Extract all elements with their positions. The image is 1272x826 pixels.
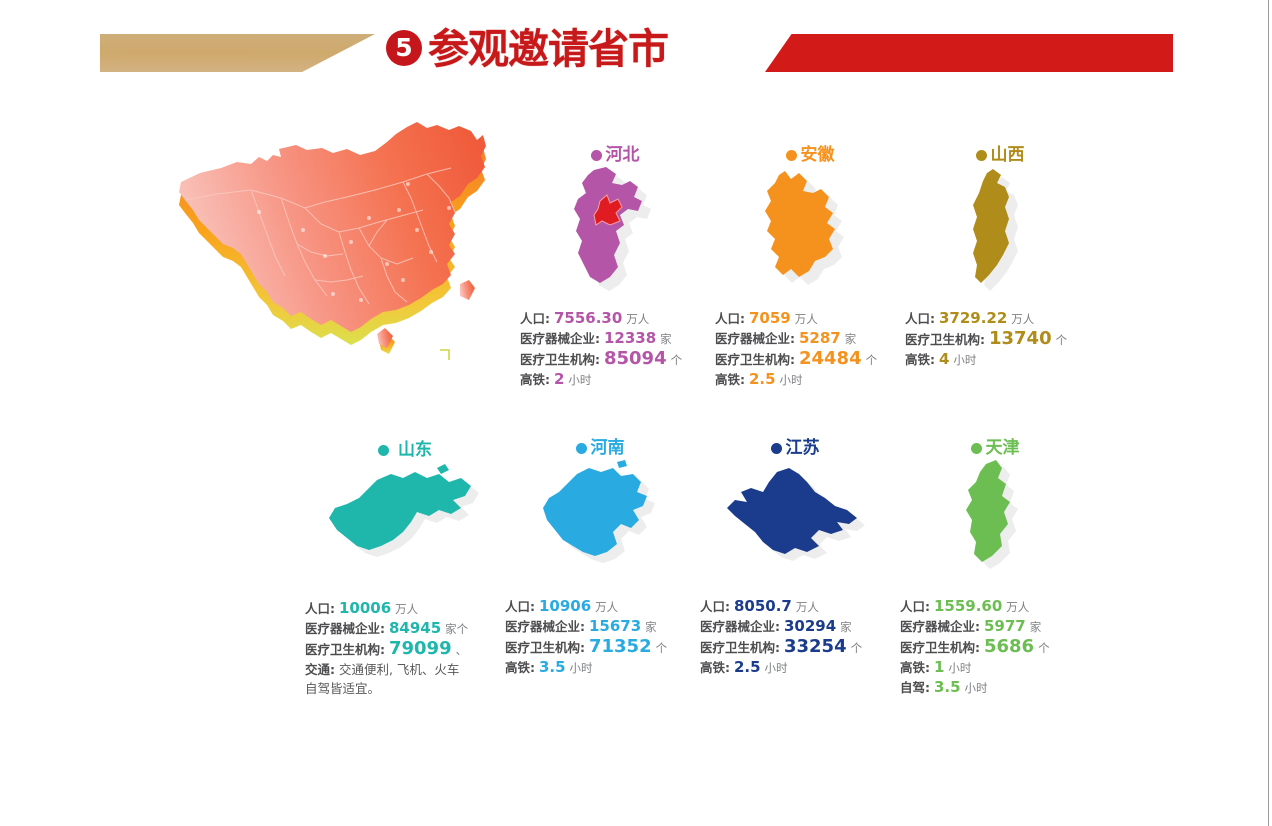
stat-label: 人口: [900,599,930,614]
province-color-dot-icon [576,443,587,454]
stat-unit: 小时 [965,681,988,695]
province-title-shanxi: 山西 [905,145,1095,165]
stat-value: 10006 [339,599,391,617]
stat-value: 2.5 [734,658,761,676]
stat-line: 医疗卫生机构: 33254 个 [700,637,890,658]
stat-line: 高铁: 3.5 小时 [505,658,695,678]
stat-unit: 个 [1056,333,1068,347]
stat-line: 高铁: 1 小时 [900,658,1090,678]
stat-unit: 家个 [445,622,468,636]
stat-label: 医疗卫生机构: [305,642,385,657]
stat-label: 医疗卫生机构: [505,640,585,655]
stat-line: 人口: 10006 万人 [305,599,505,619]
stat-value: 3.5 [934,678,961,696]
stat-value: 79099 [389,638,452,659]
stat-line: 高铁: 2 小时 [520,370,710,390]
province-shape-anhui [715,165,905,305]
stat-label: 人口: [905,311,935,326]
stat-label: 医疗器械企业: [520,331,600,346]
stat-label: 人口: [305,601,335,616]
province-stats-anhui: 人口: 7059 万人 医疗器械企业: 5287 家 医疗卫生机构: 24484… [715,309,905,390]
stat-label: 高铁: [715,372,745,387]
stat-line: 人口: 3729.22 万人 [905,309,1095,329]
stat-unit: 个 [851,641,863,655]
header-red-banner [765,34,1173,72]
province-title-hebei: 河北 [520,145,710,165]
stat-value: 1 [934,658,944,676]
province-card-hebei[interactable]: 河北 人口: 7556.30 万人 医疗器械企业: 12338 家 医疗卫生机构… [520,145,710,390]
stat-unit: 小时 [570,661,593,675]
province-shape-shandong [305,460,505,595]
stat-label: 医疗器械企业: [700,619,780,634]
china-map-surface [179,122,486,354]
stat-label: 人口: [715,311,745,326]
province-title-jiangsu: 江苏 [700,438,890,458]
china-map-svg [155,112,515,377]
stat-value: 33254 [784,636,847,657]
stat-unit: 小时 [948,661,971,675]
stat-line: 医疗卫生机构: 24484 个 [715,349,905,370]
stat-label: 医疗卫生机构: [700,640,780,655]
china-map-illustration [155,112,515,377]
province-shape-henan [505,458,695,593]
stat-line: 人口: 8050.7 万人 [700,597,890,617]
province-shape-tianjin [900,458,1090,593]
stat-label: 医疗器械企业: [900,619,980,634]
province-title-henan: 河南 [505,438,695,458]
stat-value: 7059 [749,309,791,327]
province-name: 河北 [606,145,640,165]
province-color-dot-icon [976,150,987,161]
province-card-tianjin[interactable]: 天津 人口: 1559.60 万人 医疗器械企业: 5977 家 医疗卫生机构:… [900,438,1090,698]
stat-line: 医疗器械企业: 15673 家 [505,617,695,637]
stat-line: 医疗卫生机构: 5686 个 [900,637,1090,658]
stat-unit: 个 [671,353,683,367]
province-card-henan[interactable]: 河南 人口: 10906 万人 医疗器械企业: 15673 家 医疗卫生机构: … [505,438,695,678]
stat-line: 高铁: 2.5 小时 [700,658,890,678]
stat-value: 3729.22 [939,309,1007,327]
province-name: 河南 [591,438,625,458]
stat-label: 高铁: [900,660,930,675]
stat-unit: 个 [1038,641,1050,655]
stat-value: 1559.60 [934,597,1002,615]
stat-unit: 家 [660,332,672,346]
stat-line: 医疗器械企业: 5287 家 [715,329,905,349]
province-shape-shanxi [905,165,1095,305]
province-title-shandong: 山东 [305,440,505,460]
page-header: 5 参观邀请省市 [0,0,1272,100]
stat-unit: 万人 [1006,600,1029,614]
stat-line: 医疗器械企业: 12338 家 [520,329,710,349]
province-card-shanxi[interactable]: 山西 人口: 3729.22 万人 医疗卫生机构: 13740 个 高铁: 4 … [905,145,1095,370]
stat-line: 人口: 7059 万人 [715,309,905,329]
province-name: 安徽 [801,145,835,165]
province-card-jiangsu[interactable]: 江苏 人口: 8050.7 万人 医疗器械企业: 30294 家 医疗卫生机构:… [700,438,890,678]
province-color-dot-icon [786,150,797,161]
stat-line: 医疗器械企业: 5977 家 [900,617,1090,637]
stat-label: 交通: [305,662,335,677]
province-stats-tianjin: 人口: 1559.60 万人 医疗器械企业: 5977 家 医疗卫生机构: 56… [900,597,1090,698]
stat-value: 7556.30 [554,309,622,327]
province-name: 天津 [986,438,1020,458]
header-gold-banner [100,34,375,72]
stat-label: 高铁: [905,352,935,367]
province-name: 江苏 [786,438,820,458]
stat-value: 85094 [604,348,667,369]
stat-value: 84945 [389,619,441,637]
stat-unit: 小时 [953,353,976,367]
stat-line: 医疗卫生机构: 79099 、 [305,639,505,660]
stat-label: 医疗卫生机构: [900,640,980,655]
province-stats-jiangsu: 人口: 8050.7 万人 医疗器械企业: 30294 家 医疗卫生机构: 33… [700,597,890,678]
stat-unit: 万人 [595,600,618,614]
stat-unit: 个 [656,641,668,655]
stat-value: 24484 [799,348,862,369]
map-scale-mark [440,350,449,360]
stat-value: 12338 [604,329,656,347]
stat-label: 高铁: [505,660,535,675]
province-color-dot-icon [591,150,602,161]
stat-unit: 家 [645,620,657,634]
province-title-anhui: 安徽 [715,145,905,165]
stat-free-text: 交通便利, 飞机、火车 [339,662,459,677]
stat-label: 自驾: [900,680,930,695]
province-shape-jiangsu [700,458,890,593]
stat-unit: 万人 [626,312,649,326]
stat-label: 医疗卫生机构: [905,332,985,347]
province-color-dot-icon [771,443,782,454]
page-title: 参观邀请省市 [428,24,668,74]
section-number: 5 [395,35,412,60]
stat-value: 5287 [799,329,841,347]
page-edge-line [1268,0,1269,826]
stat-label: 高铁: [700,660,730,675]
stat-unit: 家 [840,620,852,634]
stat-free-text: 自驾皆适宜。 [305,681,380,696]
stat-label: 人口: [700,599,730,614]
stat-line: 高铁: 2.5 小时 [715,370,905,390]
stat-label: 人口: [505,599,535,614]
stat-value: 8050.7 [734,597,792,615]
stat-label: 医疗器械企业: [305,621,385,636]
stat-line: 医疗器械企业: 30294 家 [700,617,890,637]
province-card-anhui[interactable]: 安徽 人口: 7059 万人 医疗器械企业: 5287 家 医疗卫生机构: 24… [715,145,905,390]
stat-line: 医疗卫生机构: 13740 个 [905,329,1095,350]
province-color-dot-icon [971,443,982,454]
stat-value: 4 [939,350,949,368]
stat-line: 医疗卫生机构: 71352 个 [505,637,695,658]
stat-value: 13740 [989,328,1052,349]
stat-label: 医疗卫生机构: [520,352,600,367]
stat-value: 3.5 [539,658,566,676]
province-title-tianjin: 天津 [900,438,1090,458]
stat-unit: 个 [866,353,878,367]
stat-value: 10906 [539,597,591,615]
stat-line: 高铁: 4 小时 [905,350,1095,370]
province-stats-shandong: 人口: 10006 万人 医疗器械企业: 84945 家个 医疗卫生机构: 79… [305,599,505,698]
stat-unit: 、 [456,643,468,657]
stat-unit: 小时 [765,661,788,675]
province-stats-shanxi: 人口: 3729.22 万人 医疗卫生机构: 13740 个 高铁: 4 小时 [905,309,1095,370]
province-name: 山东 [398,440,432,460]
stat-unit: 小时 [568,373,591,387]
stat-value: 5686 [984,636,1034,657]
stat-value: 71352 [589,636,652,657]
stat-line: 自驾皆适宜。 [305,679,505,698]
stat-unit: 家 [845,332,857,346]
stat-value: 5977 [984,617,1026,635]
stat-unit: 万人 [795,312,818,326]
stat-line: 自驾: 3.5 小时 [900,678,1090,698]
stat-value: 30294 [784,617,836,635]
stat-line: 人口: 7556.30 万人 [520,309,710,329]
province-shape-hebei [520,165,710,305]
stat-value: 15673 [589,617,641,635]
province-stats-henan: 人口: 10906 万人 医疗器械企业: 15673 家 医疗卫生机构: 713… [505,597,695,678]
stat-unit: 小时 [780,373,803,387]
stat-unit: 万人 [395,602,418,616]
section-number-badge: 5 [386,30,422,66]
stat-unit: 家 [1030,620,1042,634]
stat-unit: 万人 [796,600,819,614]
stat-line: 人口: 1559.60 万人 [900,597,1090,617]
stat-value: 2.5 [749,370,776,388]
stat-label: 高铁: [520,372,550,387]
stat-line: 医疗卫生机构: 85094 个 [520,349,710,370]
stat-line: 人口: 10906 万人 [505,597,695,617]
stat-label: 医疗器械企业: [505,619,585,634]
stat-value: 2 [554,370,564,388]
stat-label: 人口: [520,311,550,326]
province-color-dot-icon [378,445,389,456]
stat-unit: 万人 [1011,312,1034,326]
province-card-shandong[interactable]: 山东 人口: 10006 万人 医疗器械企业: 84945 家个 医疗卫生机构:… [305,440,505,698]
stat-line: 交通: 交通便利, 飞机、火车 [305,660,505,679]
province-name: 山西 [991,145,1025,165]
stat-label: 医疗卫生机构: [715,352,795,367]
stat-label: 医疗器械企业: [715,331,795,346]
province-stats-hebei: 人口: 7556.30 万人 医疗器械企业: 12338 家 医疗卫生机构: 8… [520,309,710,390]
stat-line: 医疗器械企业: 84945 家个 [305,619,505,639]
